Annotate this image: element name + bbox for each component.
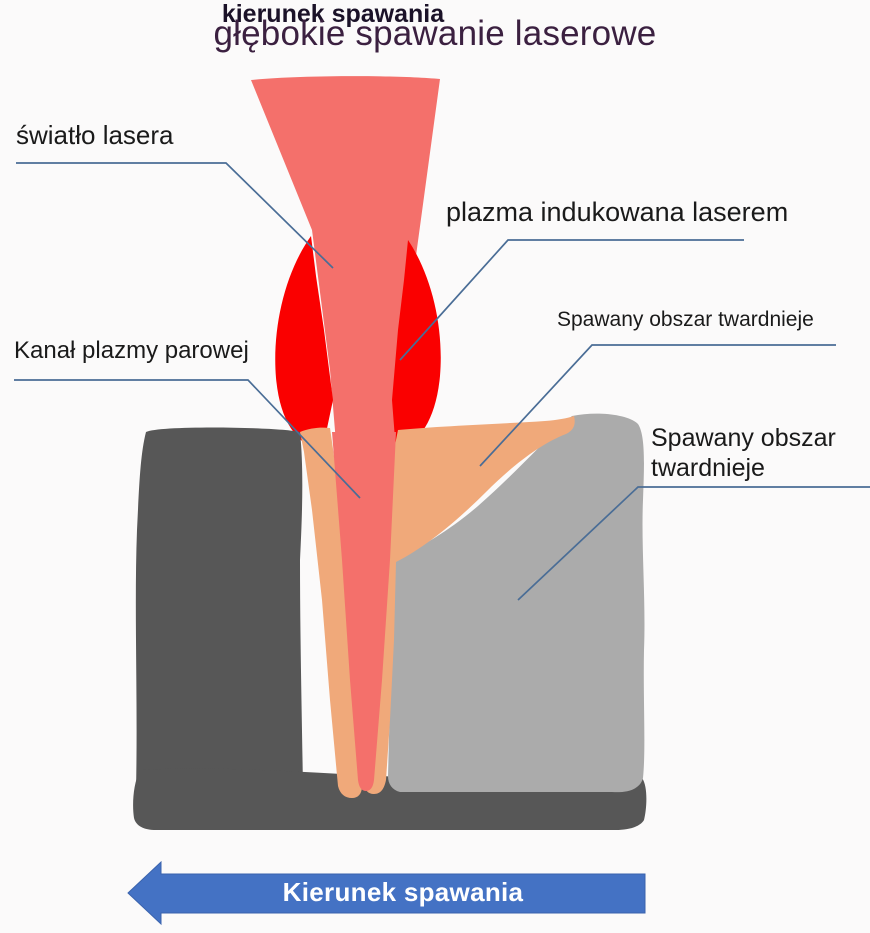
label-vapor-plasma-channel: Kanał plazmy parowej <box>14 337 249 365</box>
leader-line-laser-light <box>16 163 333 268</box>
label-welded-area-hardens-right: Spawany obszar twardnieje <box>651 424 836 483</box>
base-metal-left-block <box>136 427 303 808</box>
diagram-canvas: głębokie spawanie laserowe światło laser… <box>0 0 870 933</box>
label-laser-induced-plasma: plazma indukowana laserem <box>446 197 788 229</box>
leader-line-plasma <box>400 240 744 360</box>
label-welded-area-hardens-top: Spawany obszar twardnieje <box>557 308 814 333</box>
welding-direction-arrow-label: Kierunek spawania <box>160 877 646 908</box>
page-title: głębokie spawanie laserowe <box>0 14 870 54</box>
label-laser-light: światło lasera <box>16 120 174 151</box>
